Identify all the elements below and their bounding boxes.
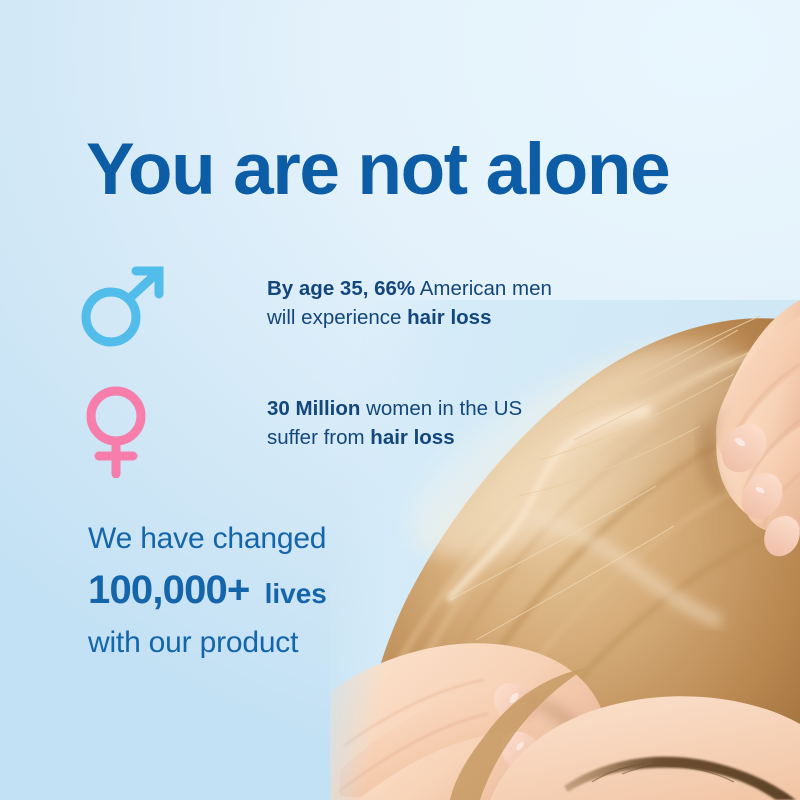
fact-women-line1-rest: women in the US	[360, 397, 522, 420]
fact-row-men: By age 35, 66% American men will experie…	[78, 262, 552, 353]
fact-men-line1-rest: American men	[415, 277, 552, 300]
hair-loss-photo	[330, 300, 800, 800]
lives-changed-unit: lives	[265, 580, 327, 608]
poster-canvas: You are not alone By age 35, 66% America…	[0, 0, 800, 800]
closing-line-1: We have changed	[88, 524, 327, 554]
fact-men-text: By age 35, 66% American men will experie…	[267, 274, 552, 332]
fact-men-line2-bold: hair loss	[407, 306, 491, 329]
closing-line-3: with our product	[88, 628, 327, 658]
closing-line-2: 100,000+ lives	[88, 570, 327, 610]
closing-statement: We have changed 100,000+ lives with our …	[88, 524, 327, 658]
female-gender-symbol-icon	[78, 382, 170, 483]
fact-women-text: 30 Million women in the US suffer from h…	[267, 394, 522, 452]
fact-row-women: 30 Million women in the US suffer from h…	[78, 382, 522, 483]
fact-women-line1-bold: 30 Million	[267, 397, 360, 420]
page-title: You are not alone	[86, 133, 669, 206]
fact-women-line2-rest: suffer from	[267, 426, 370, 449]
fact-women-line2-bold: hair loss	[370, 426, 454, 449]
male-gender-symbol-icon	[78, 262, 170, 353]
fact-men-line2-rest: will experience	[267, 306, 407, 329]
fact-men-line1-bold: By age 35, 66%	[267, 277, 415, 300]
lives-changed-number: 100,000+	[88, 570, 250, 610]
